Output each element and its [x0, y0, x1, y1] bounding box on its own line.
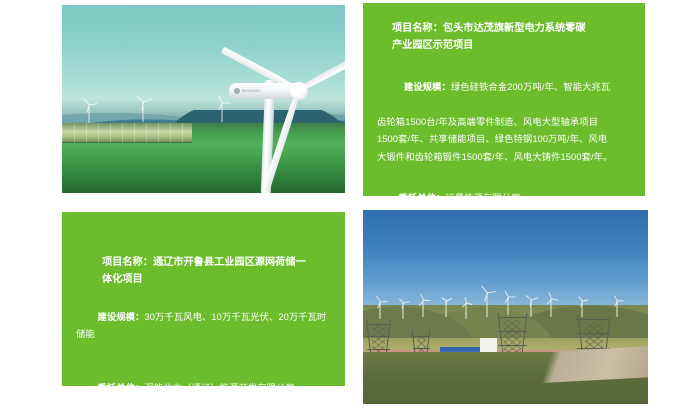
- distant-turbine-icon: [417, 293, 428, 316]
- project-name-value-line-2: 产业园区示范项目: [392, 40, 474, 51]
- foreground-wind-turbine: Envision: [62, 5, 345, 193]
- distant-turbine-icon: [440, 295, 451, 316]
- client-unit-value: 远景能源有限公司: [445, 193, 520, 197]
- distant-turbine-icon: [480, 284, 494, 317]
- construction-scale-line-4: 大锻件和齿轮箱锻件1500套/年、风电大铸件1500套/年。: [377, 149, 631, 167]
- client-unit-value: 深能北方（通辽）能源开发有限公司: [144, 383, 294, 387]
- distant-turbine-icon: [460, 297, 471, 318]
- project-title-tongliao: 项目名称：通辽市开鲁县工业园区源网荷储一: [76, 255, 331, 272]
- wind-farm-substation-photo: [363, 210, 648, 404]
- client-unit-block-tongliao: 委托单位：深能北方（通辽）能源开发有限公司: [76, 362, 331, 386]
- construction-scale-text-1: 绿色硅铁合金200万吨/年、智能大兆瓦: [451, 82, 610, 92]
- client-unit-label: 委托单位：: [398, 193, 445, 197]
- project-name-value-line-1: 包头市达茂旗新型电力系统零碳: [443, 23, 586, 34]
- project-name-value-line-1: 通辽市开鲁县工业园区源网荷储一: [153, 257, 306, 268]
- construction-scale-block-tongliao: 建设规模：30万千瓦风电、10万千瓦光伏、20万千瓦时储能: [76, 291, 331, 361]
- turbine-photo-canvas: Envision: [62, 5, 345, 193]
- construction-scale-block-baotou: 建设规模：绿色硅铁合金200万吨/年、智能大兆瓦 齿轮箱1500台/年及高端零件…: [377, 61, 631, 166]
- client-unit-block-baotou: 委托单位：远景能源有限公司: [377, 172, 631, 196]
- station-photo-canvas: [363, 210, 648, 404]
- distant-turbine-icon: [397, 297, 408, 318]
- distant-turbine-icon: [545, 291, 556, 316]
- distant-turbine-icon: [611, 295, 622, 316]
- envision-logo-mark: [234, 88, 240, 94]
- construction-scale-line-2: 齿轮箱1500台/年及高端零件制造、风电大型轴承项目: [377, 114, 631, 132]
- poster-root: Envision 项目名称：包头市达茂旗新型电力系统零碳 产业园区示范项目 建设…: [0, 0, 700, 408]
- project-card-baotou: 项目名称：包头市达茂旗新型电力系统零碳 产业园区示范项目 建设规模：绿色硅铁合金…: [363, 3, 645, 196]
- project-title-baotou-line2: 产业园区示范项目: [377, 38, 631, 55]
- construction-scale-label: 建设规模：: [404, 82, 451, 92]
- project-name-label: 项目名称：: [102, 257, 153, 268]
- construction-scale-line-1: 建设规模：绿色硅铁合金200万吨/年、智能大兆瓦: [377, 61, 631, 114]
- construction-scale-line-3: 1500套/年、共享储能项目、绿色特钢100万吨/年、风电: [377, 131, 631, 149]
- project-card-tongliao: 项目名称：通辽市开鲁县工业园区源网荷储一 体化项目 建设规模：30万千瓦风电、1…: [62, 212, 345, 386]
- turbine-hub: [290, 82, 308, 100]
- project-title-tongliao-line2: 体化项目: [76, 272, 331, 289]
- client-unit-label: 委托单位：: [97, 383, 144, 387]
- distant-turbine-icon: [503, 290, 514, 315]
- project-name-label: 项目名称：: [392, 23, 443, 34]
- distant-turbine-icon: [374, 295, 385, 318]
- project-name-value-line-2: 体化项目: [102, 274, 143, 285]
- wind-turbine-landscape-photo: Envision: [62, 5, 345, 193]
- construction-scale-label: 建设规模：: [97, 312, 144, 322]
- project-title-baotou: 项目名称：包头市达茂旗新型电力系统零碳: [377, 21, 631, 38]
- envision-logo-text: Envision: [242, 88, 260, 93]
- distant-turbine-icon: [577, 295, 588, 316]
